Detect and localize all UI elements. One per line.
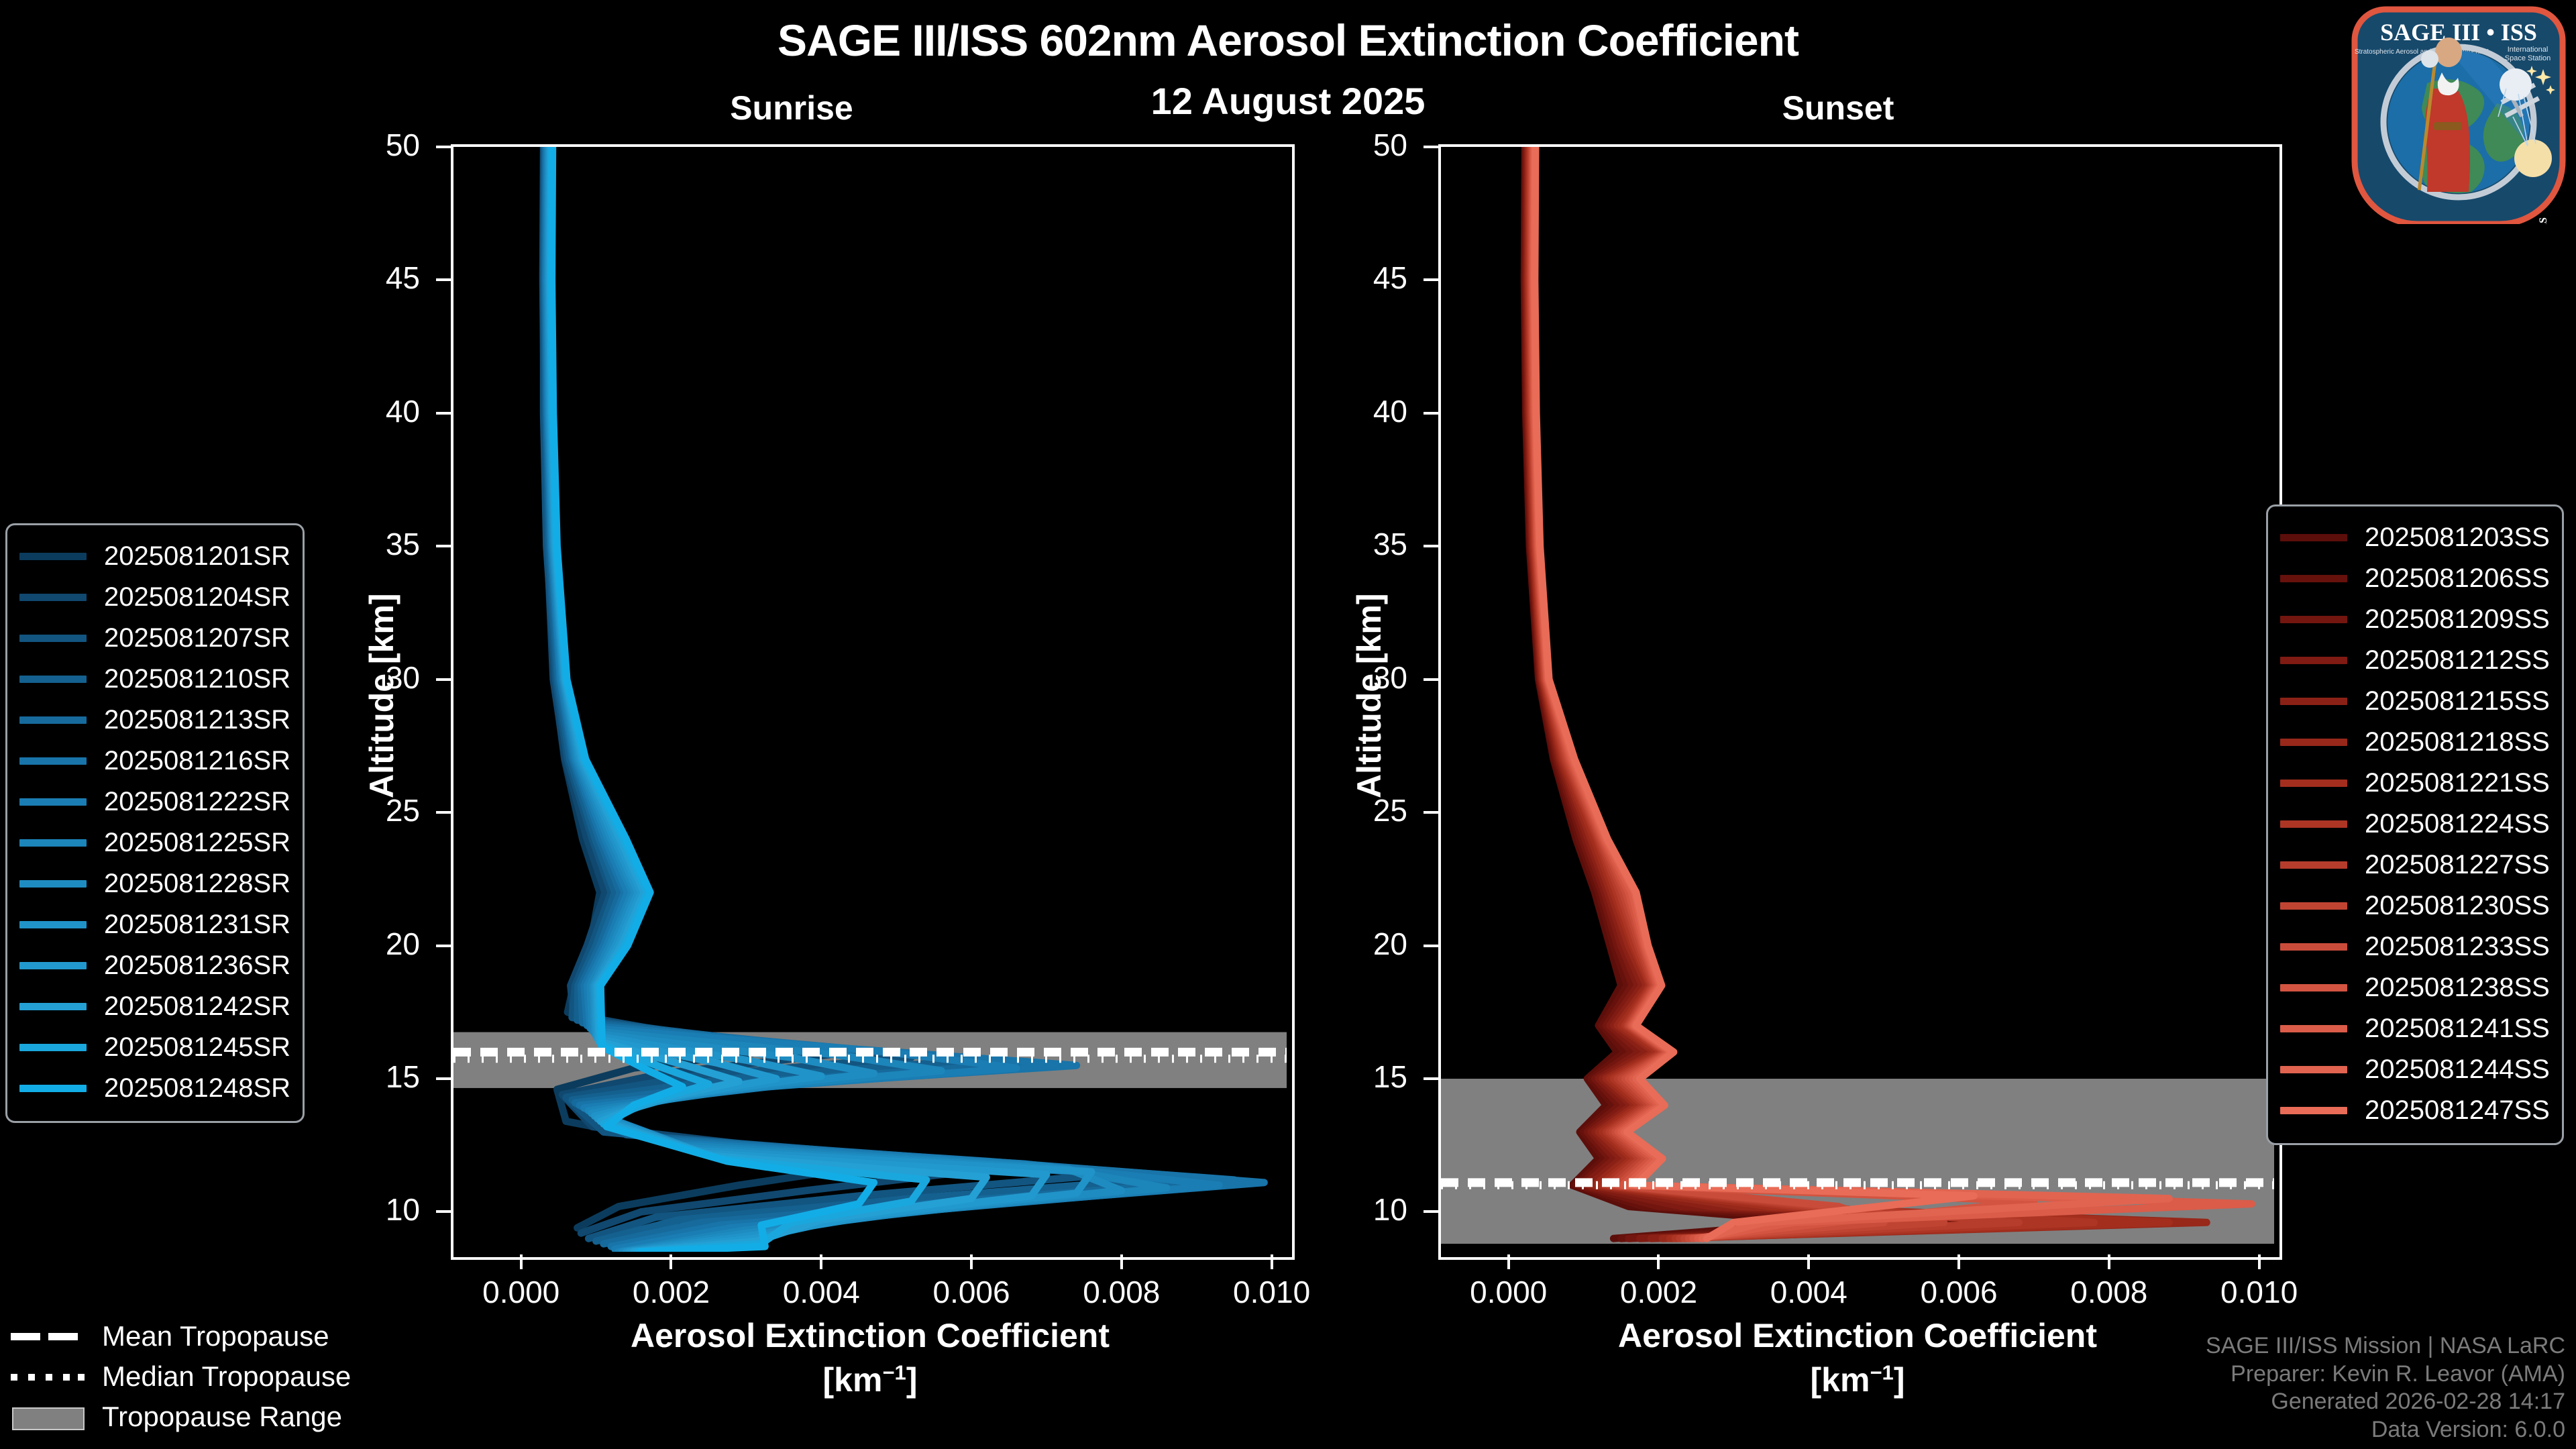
sunset-plot-canvas <box>1441 147 2274 1252</box>
profile-line <box>1524 147 1823 1238</box>
legend-color-swatch <box>19 553 87 560</box>
legend-color-swatch <box>2280 984 2347 991</box>
y-tick-mark <box>1424 278 1438 281</box>
legend-item[interactable]: 2025081209SS <box>2280 599 2550 640</box>
legend-color-swatch <box>2280 1107 2347 1114</box>
right-x-axis-label-text: Aerosol Extinction Coefficient <box>1618 1317 2097 1354</box>
right-y-axis-label: Altitude [km] <box>1350 593 1389 798</box>
legend-color-swatch <box>19 757 87 765</box>
y-tick-mark <box>436 146 451 148</box>
legend-item-label: 2025081204SR <box>104 582 290 612</box>
legend-item-label: 2025081201SR <box>104 541 290 572</box>
legend-color-swatch <box>19 839 87 847</box>
y-tick-mark <box>436 811 451 814</box>
y-tick-mark <box>1424 1210 1438 1213</box>
sunset-plot-panel <box>1438 144 2282 1260</box>
x-tick-label: 0.002 <box>597 1274 745 1310</box>
legend-item-label: 2025081244SS <box>2365 1055 2550 1085</box>
legend-item-label: 2025081241SS <box>2365 1014 2550 1044</box>
x-tick-label: 0.010 <box>2186 1274 2333 1310</box>
y-tick-label: 10 <box>1313 1191 1407 1228</box>
legend-item[interactable]: 2025081216SR <box>19 741 290 782</box>
y-tick-label: 25 <box>1313 792 1407 828</box>
tropopause-legend: Mean Tropopause Median Tropopause Tropop… <box>9 1316 351 1437</box>
profile-line <box>1532 147 1884 1238</box>
credits-line-mission: SAGE III/ISS Mission | NASA LaRC <box>2206 1332 2565 1360</box>
y-tick-mark <box>1424 678 1438 681</box>
legend-color-swatch <box>19 962 87 969</box>
y-tick-mark <box>1424 146 1438 148</box>
x-tick-mark <box>1957 1254 1960 1269</box>
legend-item[interactable]: 2025081228SR <box>19 863 290 904</box>
patch-subtitle-right-1: International <box>2508 46 2548 54</box>
y-tick-label: 35 <box>1313 526 1407 562</box>
legend-item-label: 2025081213SR <box>104 705 290 735</box>
x-tick-mark <box>669 1254 672 1269</box>
legend-color-swatch <box>2280 861 2347 869</box>
profile-line <box>1525 147 1898 1238</box>
legend-item-label: 2025081238SS <box>2365 973 2550 1003</box>
legend-color-swatch <box>2280 534 2347 541</box>
y-tick-mark <box>436 678 451 681</box>
legend-item[interactable]: 2025081236SR <box>19 945 290 986</box>
y-tick-label: 40 <box>1313 393 1407 429</box>
tropopause-legend-range-row: Tropopause Range <box>9 1397 351 1437</box>
x-tick-mark <box>970 1254 973 1269</box>
legend-color-swatch <box>2280 616 2347 623</box>
y-tick-label: 20 <box>326 926 420 962</box>
y-tick-label: 25 <box>326 792 420 828</box>
y-tick-label: 50 <box>1313 127 1407 163</box>
legend-color-swatch <box>2280 902 2347 910</box>
x-tick-mark <box>820 1254 822 1269</box>
legend-item[interactable]: 2025081224SS <box>2280 804 2550 845</box>
legend-color-swatch <box>19 1003 87 1010</box>
x-tick-label: 0.000 <box>447 1274 595 1310</box>
legend-item-label: 2025081224SS <box>2365 809 2550 839</box>
dotted-line-icon <box>9 1367 85 1386</box>
x-tick-label: 0.000 <box>1435 1274 1582 1310</box>
legend-color-swatch <box>19 1085 87 1092</box>
x-tick-label: 0.004 <box>1735 1274 1882 1310</box>
legend-item[interactable]: 2025081222SR <box>19 782 290 822</box>
sunrise-legend[interactable]: 2025081201SR2025081204SR2025081207SR2025… <box>5 523 305 1123</box>
y-tick-label: 50 <box>326 127 420 163</box>
legend-color-swatch <box>19 716 87 724</box>
legend-color-swatch <box>2280 1025 2347 1032</box>
legend-item-label: 2025081233SS <box>2365 932 2550 962</box>
tropopause-range-label: Tropopause Range <box>102 1401 342 1433</box>
patch-sun <box>2514 140 2552 177</box>
left-x-axis-label-text: Aerosol Extinction Coefficient <box>631 1317 1110 1354</box>
legend-item[interactable]: 2025081206SS <box>2280 558 2550 599</box>
legend-item-label: 2025081210SR <box>104 664 290 694</box>
profile-line <box>1525 147 1988 1238</box>
legend-item-label: 2025081248SR <box>104 1073 290 1104</box>
x-tick-label: 0.004 <box>747 1274 895 1310</box>
dashed-line-icon <box>9 1327 85 1346</box>
legend-color-swatch <box>2280 739 2347 746</box>
legend-item-label: 2025081215SS <box>2365 686 2550 716</box>
legend-color-swatch <box>2280 1066 2347 1073</box>
legend-color-swatch <box>2280 780 2347 787</box>
legend-item-label: 2025081216SR <box>104 746 290 776</box>
legend-item-label: 2025081227SS <box>2365 850 2550 880</box>
legend-item[interactable]: 2025081210SR <box>19 659 290 700</box>
legend-color-swatch <box>2280 575 2347 582</box>
legend-item[interactable]: 2025081221SS <box>2280 763 2550 804</box>
credits-line-preparer: Preparer: Kevin R. Leavor (AMA) <box>2206 1360 2565 1388</box>
x-tick-label: 0.006 <box>898 1274 1045 1310</box>
y-tick-label: 30 <box>1313 659 1407 696</box>
y-tick-mark <box>1424 945 1438 947</box>
legend-item[interactable]: 2025081213SR <box>19 700 290 741</box>
tropopause-median-label: Median Tropopause <box>102 1360 351 1393</box>
y-tick-label: 10 <box>326 1191 420 1228</box>
y-tick-mark <box>1424 811 1438 814</box>
page-subtitle-date: 12 August 2025 <box>0 79 2576 123</box>
legend-item-label: 2025081207SR <box>104 623 290 653</box>
y-tick-label: 45 <box>326 260 420 296</box>
legend-color-swatch <box>19 676 87 683</box>
y-tick-label: 15 <box>326 1059 420 1095</box>
x-tick-mark <box>520 1254 523 1269</box>
legend-color-swatch <box>19 635 87 642</box>
patch-title: SAGE III • ISS <box>2380 19 2537 46</box>
y-tick-mark <box>436 278 451 281</box>
y-tick-label: 45 <box>1313 260 1407 296</box>
left-panel-title: Sunrise <box>604 89 979 127</box>
profile-line <box>1529 147 2094 1238</box>
left-x-axis-unit: [km−1] <box>434 1360 1306 1399</box>
right-panel-title: Sunset <box>1650 89 2026 127</box>
x-tick-label: 0.008 <box>2035 1274 2183 1310</box>
legend-color-swatch <box>2280 943 2347 951</box>
credits-line-generated: Generated 2026-02-28 14:17 <box>2206 1388 2565 1415</box>
legend-item-label: 2025081222SR <box>104 787 290 817</box>
sage-iii-iss-mission-patch-logo: SAGE III • ISS Stratospheric Aerosol and… <box>2348 3 2569 224</box>
x-tick-mark <box>1807 1254 1810 1269</box>
legend-item-label: 2025081228SR <box>104 869 290 899</box>
tropopause-legend-median-row: Median Tropopause <box>9 1356 351 1397</box>
credits-block: SAGE III/ISS Mission | NASA LaRC Prepare… <box>2206 1332 2565 1444</box>
legend-item[interactable]: 2025081204SR <box>19 577 290 618</box>
x-tick-mark <box>1507 1254 1510 1269</box>
legend-item-label: 2025081209SS <box>2365 604 2550 635</box>
x-tick-mark <box>1271 1254 1273 1269</box>
legend-item-label: 2025081245SR <box>104 1032 290 1063</box>
left-y-axis-label: Altitude [km] <box>362 593 401 798</box>
sunrise-plot-panel <box>451 144 1295 1260</box>
y-tick-mark <box>436 945 451 947</box>
y-tick-label: 15 <box>1313 1059 1407 1095</box>
x-tick-mark <box>1120 1254 1123 1269</box>
credits-line-version: Data Version: 6.0.0 <box>2206 1416 2565 1444</box>
legend-item[interactable]: 2025081231SR <box>19 904 290 945</box>
legend-item-label: 2025081218SS <box>2365 727 2550 757</box>
y-tick-label: 40 <box>326 393 420 429</box>
legend-color-swatch <box>2280 698 2347 705</box>
legend-item[interactable]: 2025081233SS <box>2280 926 2550 967</box>
legend-item[interactable]: 2025081207SR <box>19 618 290 659</box>
y-tick-mark <box>1424 545 1438 547</box>
legend-item-label: 2025081212SS <box>2365 645 2550 676</box>
legend-item-label: 2025081230SS <box>2365 891 2550 921</box>
legend-item[interactable]: 2025081201SR <box>19 536 290 577</box>
legend-color-swatch <box>19 594 87 601</box>
legend-item-label: 2025081206SS <box>2365 563 2550 594</box>
legend-item-label: 2025081236SR <box>104 951 290 981</box>
legend-item[interactable]: 2025081230SS <box>2280 885 2550 926</box>
legend-item[interactable]: 2025081248SR <box>19 1068 290 1109</box>
legend-color-swatch <box>19 921 87 928</box>
legend-color-swatch <box>2280 820 2347 828</box>
gray-range-patch-icon <box>9 1407 85 1426</box>
legend-color-swatch <box>19 798 87 806</box>
y-tick-mark <box>436 1210 451 1213</box>
x-tick-mark <box>1657 1254 1660 1269</box>
x-tick-label: 0.008 <box>1048 1274 1195 1310</box>
legend-item[interactable]: 2025081242SR <box>19 986 290 1027</box>
legend-item[interactable]: 2025081218SS <box>2280 722 2550 763</box>
legend-item-label: 2025081247SS <box>2365 1095 2550 1126</box>
legend-item-label: 2025081231SR <box>104 910 290 940</box>
patch-subtitle-right-2: Space Station <box>2505 54 2551 62</box>
right-x-axis-unit: [km−1] <box>1421 1360 2294 1399</box>
y-tick-mark <box>436 545 451 547</box>
y-tick-mark <box>436 412 451 415</box>
y-tick-mark <box>1424 1077 1438 1080</box>
tropopause-legend-mean-row: Mean Tropopause <box>9 1316 351 1356</box>
legend-item-label: 2025081203SS <box>2365 523 2550 553</box>
legend-item[interactable]: 2025081225SR <box>19 822 290 863</box>
legend-item[interactable]: 2025081212SS <box>2280 640 2550 681</box>
page-title: SAGE III/ISS 602nm Aerosol Extinction Co… <box>0 15 2576 66</box>
sunset-legend[interactable]: 2025081203SS2025081206SS2025081209SS2025… <box>2266 504 2564 1145</box>
x-tick-label: 0.002 <box>1585 1274 1732 1310</box>
legend-item[interactable]: 2025081241SS <box>2280 1008 2550 1049</box>
y-tick-mark <box>436 1077 451 1080</box>
legend-item[interactable]: 2025081227SS <box>2280 845 2550 885</box>
legend-item-label: 2025081242SR <box>104 991 290 1022</box>
tropopause-mean-label: Mean Tropopause <box>102 1320 329 1352</box>
legend-color-swatch <box>19 880 87 888</box>
sunrise-plot-canvas <box>453 147 1287 1252</box>
legend-item[interactable]: 2025081245SR <box>19 1027 290 1068</box>
legend-item-label: 2025081225SR <box>104 828 290 858</box>
legend-item[interactable]: 2025081203SS <box>2280 517 2550 558</box>
legend-item[interactable]: 2025081238SS <box>2280 967 2550 1008</box>
y-tick-label: 20 <box>1313 926 1407 962</box>
x-tick-label: 0.006 <box>1885 1274 2033 1310</box>
left-x-axis-label: Aerosol Extinction Coefficient [km−1] <box>434 1316 1306 1399</box>
x-tick-mark <box>2258 1254 2261 1269</box>
y-tick-label: 30 <box>326 659 420 696</box>
y-tick-mark <box>1424 412 1438 415</box>
legend-item[interactable]: 2025081247SS <box>2280 1090 2550 1131</box>
legend-item-label: 2025081221SS <box>2365 768 2550 798</box>
x-tick-mark <box>2108 1254 2110 1269</box>
right-x-axis-label: Aerosol Extinction Coefficient [km−1] <box>1421 1316 2294 1399</box>
legend-color-swatch <box>19 1044 87 1051</box>
x-tick-label: 0.010 <box>1198 1274 1346 1310</box>
y-tick-label: 35 <box>326 526 420 562</box>
legend-item[interactable]: 2025081215SS <box>2280 681 2550 722</box>
legend-color-swatch <box>2280 657 2347 664</box>
legend-item[interactable]: 2025081244SS <box>2280 1049 2550 1090</box>
